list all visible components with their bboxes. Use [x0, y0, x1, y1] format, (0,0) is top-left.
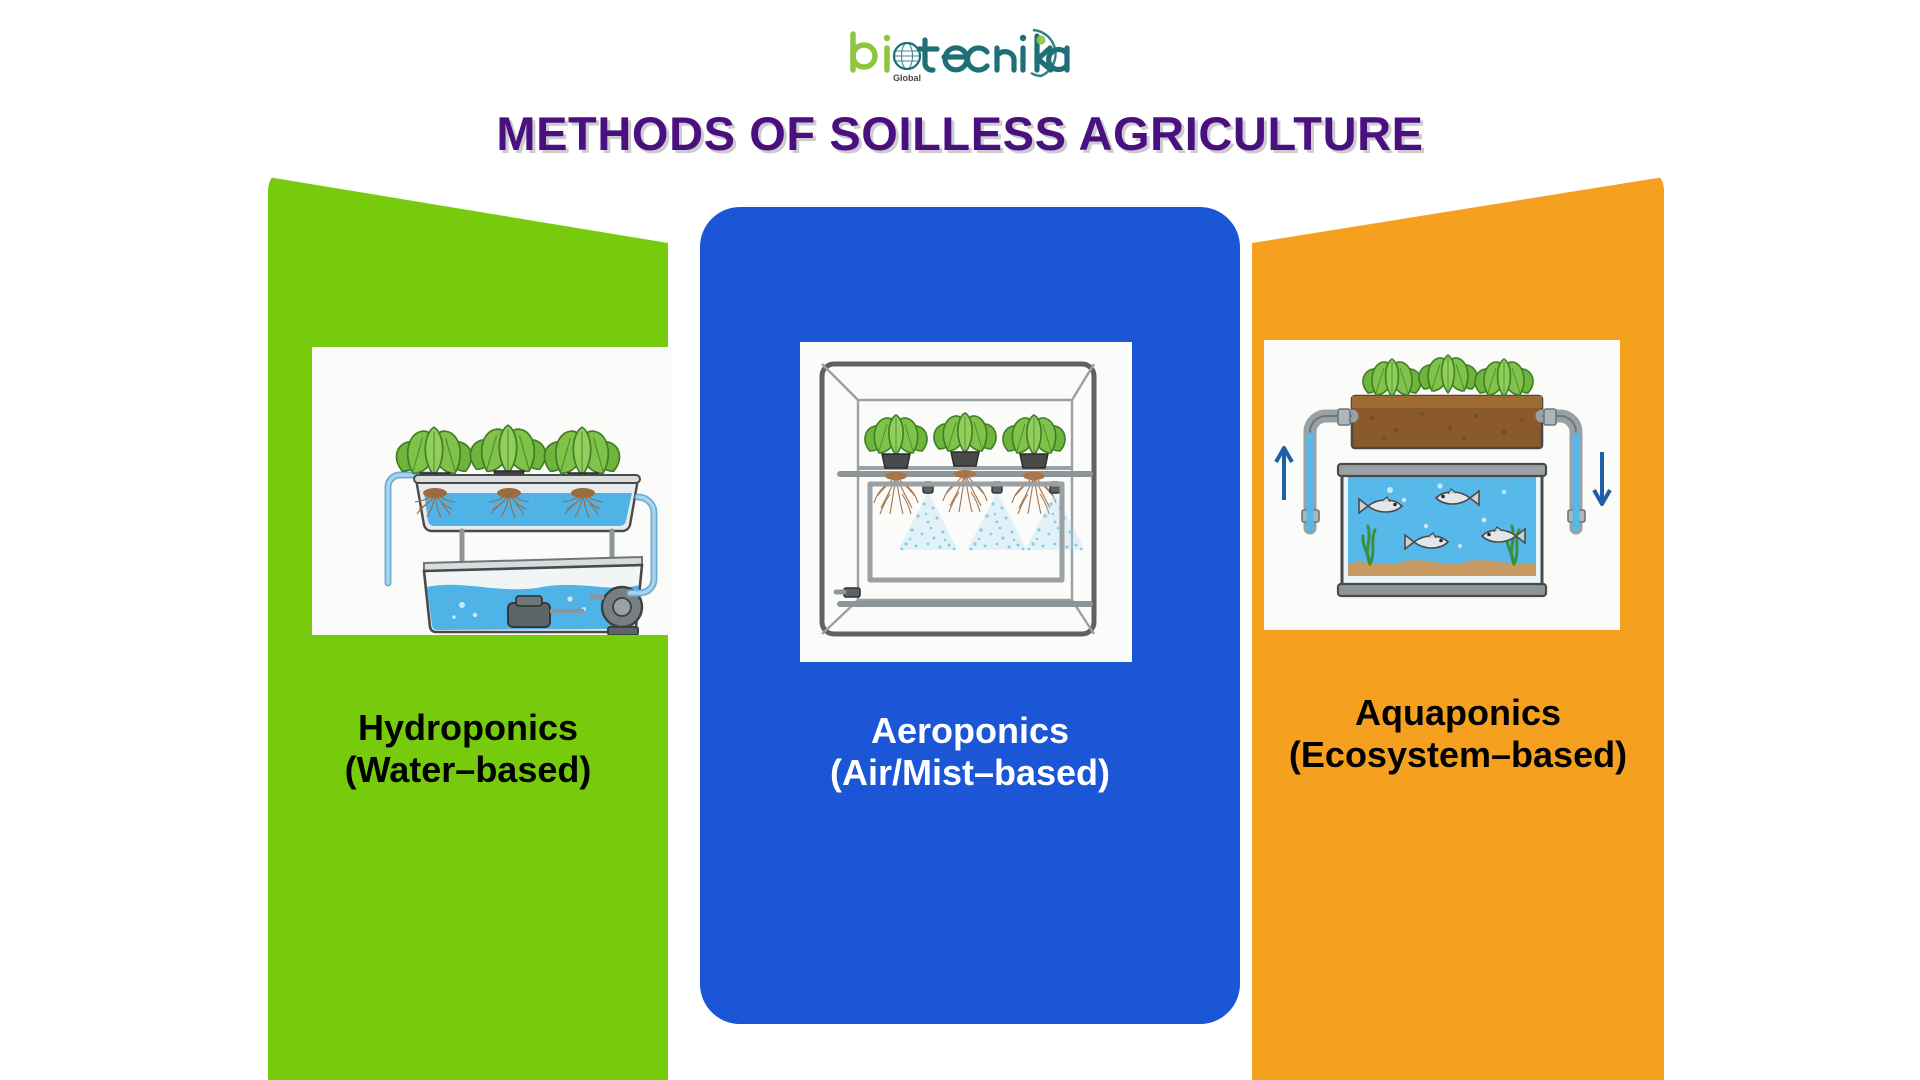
caption-aquaponics: Aquaponics (Ecosystem–based)	[1252, 692, 1664, 776]
caption-aeroponics: Aeroponics (Air/Mist–based)	[700, 710, 1240, 794]
biotecnika-logo-icon: Global	[845, 26, 1075, 88]
aeroponics-illustration	[800, 342, 1132, 662]
page-title: METHODS OF SOILLESS AGRICULTURE	[0, 106, 1920, 161]
hydroponics-illustration	[312, 347, 672, 635]
aquaponics-illustration	[1264, 340, 1620, 630]
brand-logo: Global	[0, 26, 1920, 88]
caption-hydroponics: Hydroponics (Water–based)	[268, 707, 668, 791]
svg-text:Global: Global	[893, 73, 921, 83]
infographic-canvas: Global METH	[0, 0, 1920, 1080]
